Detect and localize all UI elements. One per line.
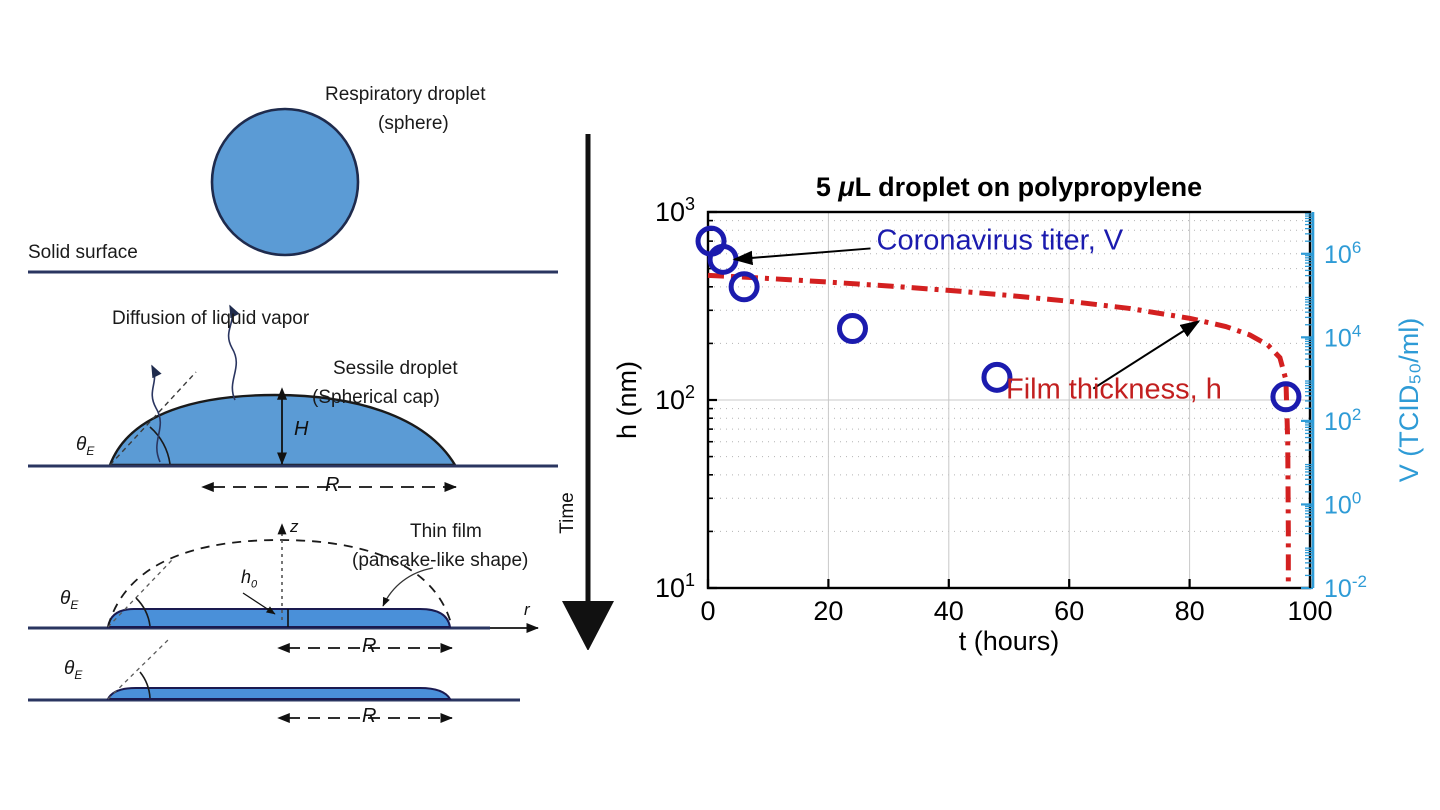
chart-panel: 10110210310610410210010-2020406080100Cor… <box>600 160 1440 660</box>
film-thickness-annotation: Film thickness, h <box>1006 373 1222 405</box>
x-tick-label: 60 <box>1054 596 1084 626</box>
y-axis-label: h (nm) <box>612 361 642 439</box>
theta-symbol: θ <box>76 434 86 455</box>
y2-tick-label: 100 <box>1324 488 1361 519</box>
thin-film-sublabel: (pancake-like shape) <box>352 550 528 572</box>
theta-subscript: E <box>70 598 78 612</box>
y-tick-label: 103 <box>655 194 695 227</box>
x-tick-label: 0 <box>700 596 715 626</box>
theta-symbol: θ <box>60 588 70 609</box>
contact-angle-label-film1: θE <box>60 588 78 612</box>
h0-label: h0 <box>241 567 257 591</box>
respiratory-droplet-sublabel: (sphere) <box>378 113 449 135</box>
droplet-height-label: H <box>294 418 308 441</box>
x-axis-label: t (hours) <box>959 626 1060 656</box>
y2-tick-label: 102 <box>1324 405 1361 436</box>
x-tick-label: 100 <box>1287 596 1332 626</box>
respiratory-droplet-label: Respiratory droplet <box>325 84 486 106</box>
x-tick-label: 40 <box>934 596 964 626</box>
thin-film-label: Thin film <box>410 521 482 543</box>
radius-label-sessile: R <box>325 474 339 497</box>
x-tick-label: 80 <box>1175 596 1205 626</box>
respiratory-droplet-sphere <box>212 109 358 255</box>
y2-tick-label: 106 <box>1324 238 1361 269</box>
coronavirus-titer-annotation: Coronavirus titer, V <box>877 225 1124 257</box>
chart-title: 5 μL droplet on polypropylene <box>816 172 1202 202</box>
theta-subscript: E <box>86 444 94 458</box>
h0-subscript: 0 <box>251 579 257 591</box>
z-axis-label: z <box>290 517 299 537</box>
r-axis-label: r <box>524 600 530 620</box>
diffusion-label: Diffusion of liquid vapor <box>112 308 309 330</box>
x-tick-label: 20 <box>813 596 843 626</box>
contact-angle-label-sessile: θE <box>76 434 94 458</box>
thinnest-film-shape <box>108 688 450 699</box>
contact-angle-label-film2: θE <box>64 658 82 682</box>
y-tick-label: 102 <box>655 382 695 415</box>
radius-label-film2: R <box>362 705 376 728</box>
radius-label-film1: R <box>362 635 376 658</box>
sessile-droplet-label: Sessile droplet <box>333 358 458 380</box>
droplet-schematic-svg <box>0 0 560 810</box>
time-label: Time <box>557 492 579 534</box>
y2-tick-label: 104 <box>1324 321 1361 352</box>
titer-vs-time-chart: 10110210310610410210010-2020406080100Cor… <box>600 160 1440 660</box>
y-tick-label: 101 <box>655 570 695 603</box>
y2-axis-label: V (TCID₅₀/ml) <box>1394 318 1424 483</box>
droplet-schematic-panel: Respiratory droplet (sphere) Solid surfa… <box>0 0 560 810</box>
theta-symbol: θ <box>64 658 74 679</box>
solid-surface-label: Solid surface <box>28 242 138 264</box>
theta-subscript: E <box>74 668 82 682</box>
h0-symbol: h <box>241 567 251 587</box>
sessile-droplet-sublabel: (Spherical cap) <box>312 387 440 409</box>
thin-film-shape <box>108 609 450 627</box>
thin-film-callout-arrow <box>383 568 433 606</box>
